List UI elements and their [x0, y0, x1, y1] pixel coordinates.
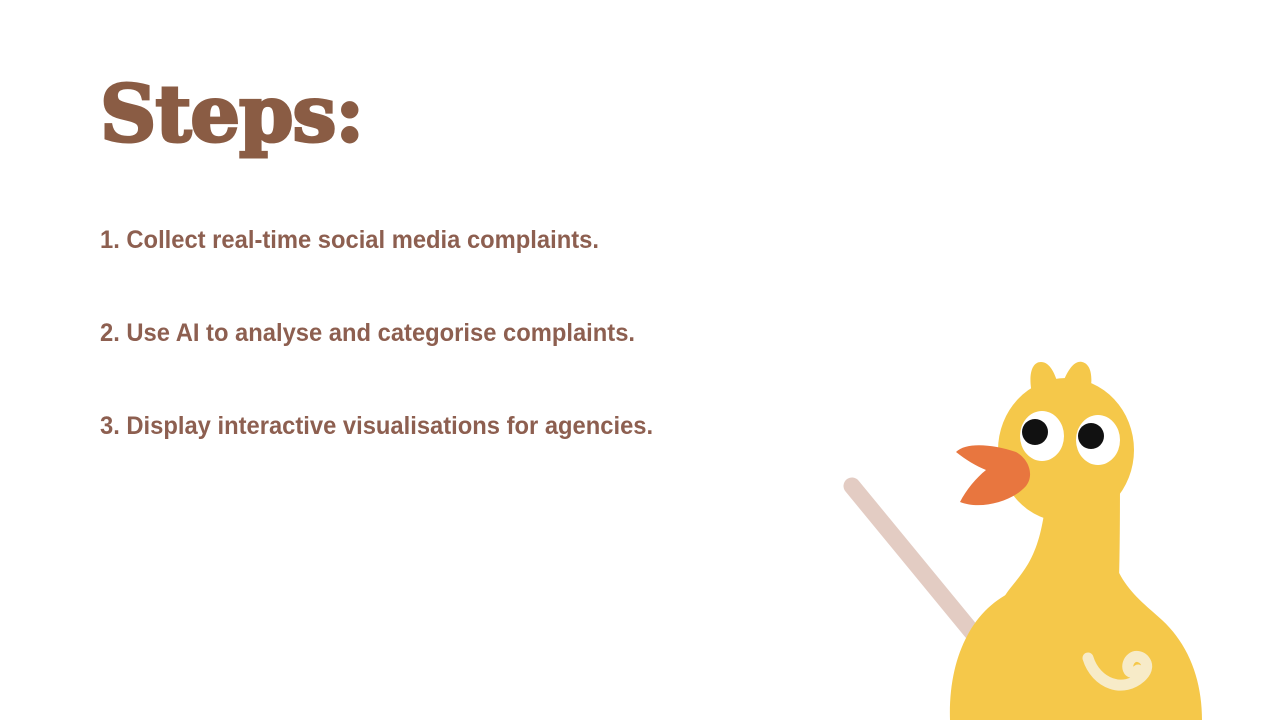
list-item-step-1: 1. Collect real-time social media compla… — [100, 228, 822, 253]
right-eye-pupil — [1078, 423, 1104, 449]
page-title: Steps: — [100, 76, 363, 154]
pointer-stick-icon — [852, 486, 972, 632]
slide-canvas: Steps: 1. Collect real-time social media… — [0, 0, 1280, 720]
left-eye — [1020, 411, 1064, 461]
list-item-step-2: 2. Use AI to analyse and categorise comp… — [100, 321, 822, 346]
left-eye-pupil — [1022, 419, 1048, 445]
duck-illustration — [820, 340, 1280, 720]
list-item-step-3: 3. Display interactive visualisations fo… — [100, 414, 822, 439]
right-eye — [1076, 415, 1120, 465]
steps-list: 1. Collect real-time social media compla… — [100, 228, 860, 439]
